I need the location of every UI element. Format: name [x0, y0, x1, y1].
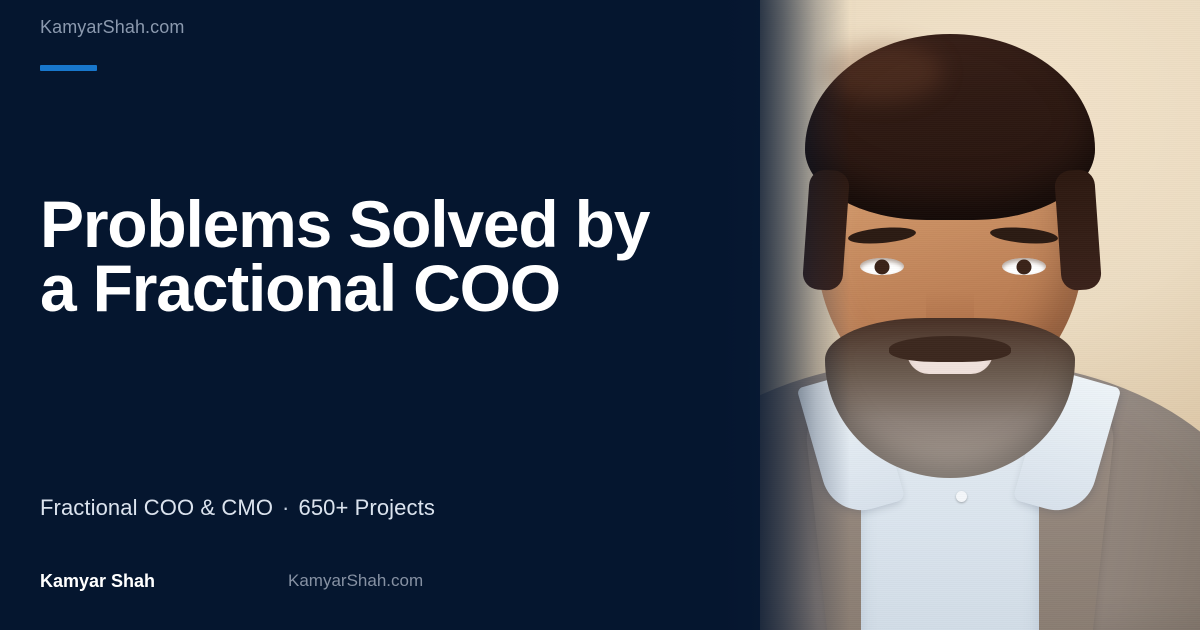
accent-bar	[40, 65, 97, 71]
page-title: Problems Solved by a Fractional COO	[40, 192, 680, 320]
eye-left	[860, 258, 904, 275]
footer: Kamyar Shah KamyarShah.com	[40, 571, 680, 595]
portrait-photo	[700, 0, 1200, 630]
sideburn-left	[802, 169, 850, 291]
footer-author-name: Kamyar Shah	[40, 571, 155, 592]
sideburn-right	[1054, 169, 1102, 291]
mustache	[889, 336, 1011, 362]
subtitle-projects: 650+ Projects	[298, 495, 434, 520]
og-share-card: KamyarShah.com Problems Solved by a Frac…	[0, 0, 1200, 630]
eye-right	[1002, 258, 1046, 275]
subtitle: Fractional COO & CMO·650+ Projects	[40, 495, 435, 521]
shirt-button	[956, 491, 967, 502]
eyebrow-site-label: KamyarShah.com	[40, 17, 184, 38]
subtitle-role: Fractional COO & CMO	[40, 495, 273, 520]
subtitle-separator: ·	[273, 495, 298, 521]
footer-site-url: KamyarShah.com	[288, 571, 423, 591]
